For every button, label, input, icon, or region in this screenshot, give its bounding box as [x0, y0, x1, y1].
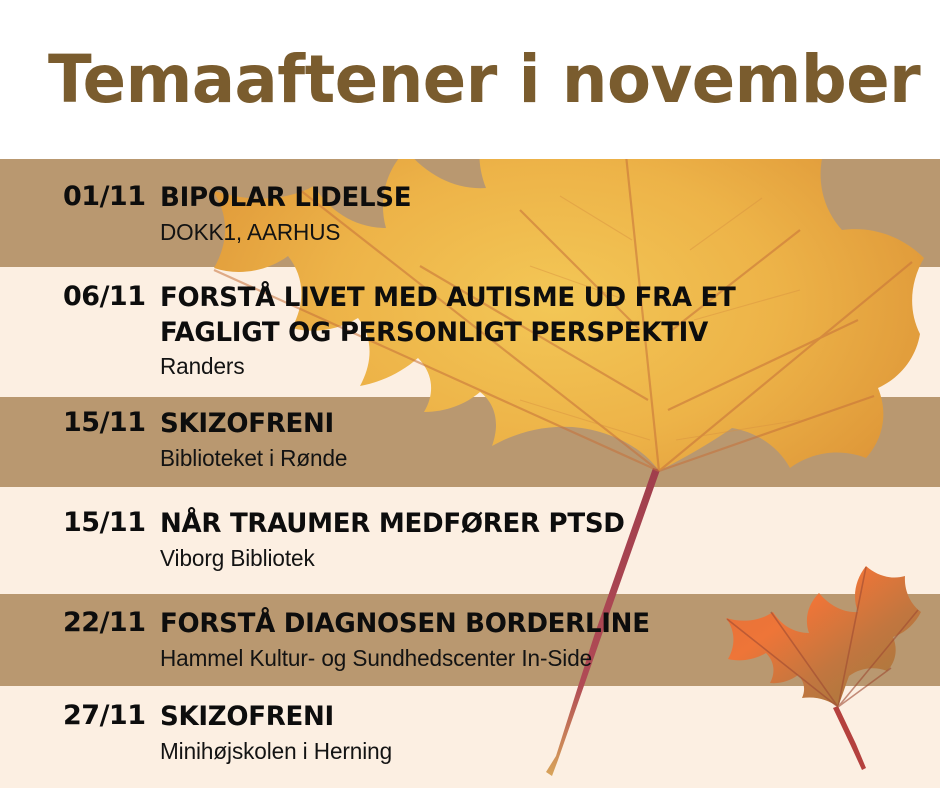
event-date: 01/11: [0, 181, 160, 212]
event-title: NÅR TRAUMER MEDFØRER PTSD: [160, 507, 913, 542]
event-title: SKIZOFRENI: [160, 700, 913, 735]
event-title: SKIZOFRENI: [160, 407, 913, 442]
page-title: Temaaftener i november: [48, 47, 920, 113]
event-row-6[interactable]: 27/11 SKIZOFRENI Minihøjskolen i Herning: [0, 700, 940, 765]
event-row-4[interactable]: 15/11 NÅR TRAUMER MEDFØRER PTSD Viborg B…: [0, 507, 940, 572]
event-venue: Randers: [160, 352, 924, 381]
event-venue: Viborg Bibliotek: [160, 544, 924, 573]
event-body: SKIZOFRENI Minihøjskolen i Herning: [160, 700, 940, 765]
event-body: SKIZOFRENI Biblioteket i Rønde: [160, 407, 940, 472]
event-venue: DOKK1, AARHUS: [160, 218, 924, 247]
poster-root: Temaaftener i november 01/11 BIPOLAR LID…: [0, 0, 940, 788]
event-venue: Hammel Kultur- og Sundhedscenter In-Side: [160, 644, 924, 673]
event-date: 22/11: [0, 607, 160, 638]
event-body: BIPOLAR LIDELSE DOKK1, AARHUS: [160, 181, 940, 246]
event-title: FORSTÅ LIVET MED AUTISME UD FRA ET FAGLI…: [160, 281, 913, 350]
event-date: 06/11: [0, 281, 160, 312]
poster-header: Temaaftener i november: [0, 0, 940, 159]
event-body: NÅR TRAUMER MEDFØRER PTSD Viborg Bibliot…: [160, 507, 940, 572]
event-date: 15/11: [0, 407, 160, 438]
event-body: FORSTÅ DIAGNOSEN BORDERLINE Hammel Kultu…: [160, 607, 940, 672]
event-row-2[interactable]: 06/11 FORSTÅ LIVET MED AUTISME UD FRA ET…: [0, 281, 940, 381]
event-venue: Minihøjskolen i Herning: [160, 737, 924, 766]
event-date: 15/11: [0, 507, 160, 538]
event-title: FORSTÅ DIAGNOSEN BORDERLINE: [160, 607, 913, 642]
event-date: 27/11: [0, 700, 160, 731]
event-row-1[interactable]: 01/11 BIPOLAR LIDELSE DOKK1, AARHUS: [0, 181, 940, 246]
event-title: BIPOLAR LIDELSE: [160, 181, 913, 216]
event-list: 01/11 BIPOLAR LIDELSE DOKK1, AARHUS 06/1…: [0, 159, 940, 788]
event-venue: Biblioteket i Rønde: [160, 444, 924, 473]
event-row-3[interactable]: 15/11 SKIZOFRENI Biblioteket i Rønde: [0, 407, 940, 472]
event-body: FORSTÅ LIVET MED AUTISME UD FRA ET FAGLI…: [160, 281, 940, 381]
event-row-5[interactable]: 22/11 FORSTÅ DIAGNOSEN BORDERLINE Hammel…: [0, 607, 940, 672]
